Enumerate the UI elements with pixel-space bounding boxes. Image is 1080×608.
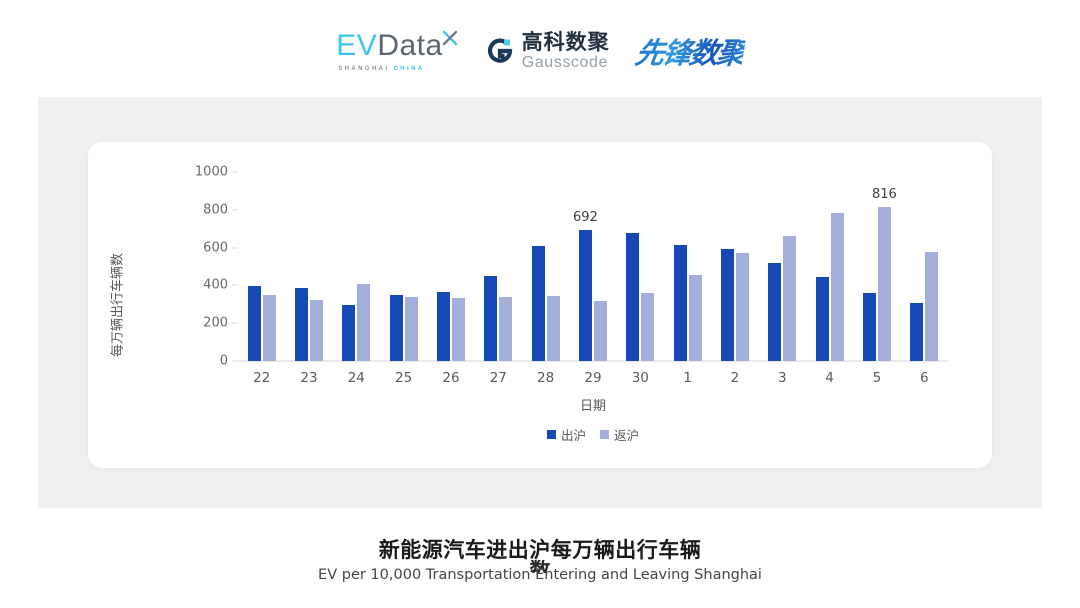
evdata-wordmark: EVData (336, 31, 458, 61)
x-tick-label: 1 (683, 370, 692, 386)
x-tick-label: 22 (253, 370, 270, 386)
x-tick-label: 4 (825, 370, 834, 386)
bar-group: 2 (711, 172, 758, 361)
bar-返沪-22[interactable] (263, 295, 276, 361)
bar-出沪-6[interactable] (910, 303, 923, 361)
bar-group: 22 (238, 172, 285, 361)
bar-返沪-1[interactable] (689, 275, 702, 361)
bar-返沪-24[interactable] (357, 284, 370, 361)
bar-group: 30 (617, 172, 664, 361)
evdata-tagline: SHANGHAI CHINA (338, 66, 424, 72)
x-tick-label: 30 (632, 370, 649, 386)
bar-group: 1 (664, 172, 711, 361)
legend-swatch-icon (547, 430, 556, 439)
bar-出沪-5[interactable] (863, 293, 876, 361)
gausscode-g-icon (485, 36, 515, 66)
evdata-prefix: EV (336, 29, 377, 62)
bar-group: 6 (901, 172, 948, 361)
y-axis-label: 每万辆出行车辆数 (107, 253, 126, 357)
bar-出沪-1[interactable] (674, 245, 687, 361)
bar-group: 28 (522, 172, 569, 361)
bar-出沪-3[interactable] (768, 263, 781, 361)
chart-card: 每万辆出行车辆数 02004006008001000 2223242526272… (88, 142, 992, 468)
logo-gausscode: 高科数聚 Gausscode (485, 32, 610, 71)
x-tick-label: 23 (300, 370, 317, 386)
bar-出沪-26[interactable] (437, 292, 450, 361)
evdata-text: EVData (336, 31, 442, 61)
bar-返沪-26[interactable] (452, 298, 465, 361)
x-axis-label: 日期 (580, 395, 606, 414)
bar-group: 26 (427, 172, 474, 361)
bar-返沪-25[interactable] (405, 297, 418, 361)
bar-返沪-28[interactable] (547, 296, 560, 361)
bar-返沪-30[interactable] (641, 293, 654, 361)
bar-返沪-6[interactable] (925, 252, 938, 361)
page-subtitle: EV per 10,000 Transportation Entering an… (318, 567, 762, 583)
plot-area: 02004006008001000 2223242526272869229301… (238, 172, 948, 361)
bar-group: 24 (333, 172, 380, 361)
bar-返沪-3[interactable] (783, 236, 796, 361)
evdata-tagline-city: SHANGHAI (338, 66, 389, 72)
bar-出沪-22[interactable] (248, 286, 261, 361)
bar-出沪-30[interactable] (626, 233, 639, 361)
bar-group: 3 (759, 172, 806, 361)
xianfeng-name-cn: 先锋数聚 (632, 30, 747, 72)
bar-返沪-5[interactable]: 816 (878, 207, 891, 361)
x-tick-label: 6 (920, 370, 929, 386)
bar-出沪-29[interactable]: 692 (579, 230, 592, 361)
x-tick-label: 3 (778, 370, 787, 386)
bar-返沪-27[interactable] (499, 297, 512, 361)
bar-出沪-23[interactable] (295, 288, 308, 361)
x-tick-label: 28 (537, 370, 554, 386)
chart-legend: 出沪返沪 (547, 425, 639, 444)
bar-chart: 每万辆出行车辆数 02004006008001000 2223242526272… (88, 142, 992, 468)
slide-page: EVData SHANGHAI CHINA (0, 0, 1080, 608)
x-tick-label: 24 (348, 370, 365, 386)
legend-label: 出沪 (561, 425, 586, 444)
bar-group: 27 (475, 172, 522, 361)
bar-出沪-27[interactable] (484, 276, 497, 361)
bar-group: 25 (380, 172, 427, 361)
gausscode-name-cn: 高科数聚 (522, 32, 610, 53)
bar-groups: 222324252627286922930123481656 (238, 172, 948, 361)
logo-evdata: EVData SHANGHAI CHINA (336, 31, 458, 72)
bar-返沪-23[interactable] (310, 300, 323, 361)
bar-group: 69229 (569, 172, 616, 361)
legend-swatch-icon (600, 430, 609, 439)
x-tick-label: 27 (490, 370, 507, 386)
legend-item-返沪[interactable]: 返沪 (600, 425, 639, 444)
bar-出沪-2[interactable] (721, 249, 734, 361)
bar-返沪-29[interactable] (594, 301, 607, 361)
x-tick-label: 5 (873, 370, 882, 386)
legend-label: 返沪 (614, 425, 639, 444)
x-tick-label: 2 (731, 370, 740, 386)
logo-xianfeng: 先锋数聚 (636, 30, 744, 72)
evdata-suffix: Data (377, 29, 442, 62)
x-tick-label: 25 (395, 370, 412, 386)
bar-group: 23 (285, 172, 332, 361)
x-tick-label: 29 (584, 370, 601, 386)
bar-value-label: 692 (573, 210, 598, 225)
x-tick-label: 26 (442, 370, 459, 386)
legend-item-出沪[interactable]: 出沪 (547, 425, 586, 444)
bar-出沪-25[interactable] (390, 295, 403, 361)
gausscode-wordmark: 高科数聚 Gausscode (522, 32, 610, 71)
gausscode-name-en: Gausscode (522, 55, 610, 71)
bar-group: 8165 (853, 172, 900, 361)
x-mark-icon (441, 29, 459, 47)
bar-group: 4 (806, 172, 853, 361)
bar-返沪-4[interactable] (831, 213, 844, 361)
bar-出沪-24[interactable] (342, 305, 355, 361)
bar-出沪-28[interactable] (532, 246, 545, 361)
evdata-tagline-country: CHINA (394, 66, 425, 72)
bar-value-label: 816 (872, 187, 897, 202)
logo-bar: EVData SHANGHAI CHINA (0, 22, 1080, 80)
bar-出沪-4[interactable] (816, 277, 829, 361)
bar-返沪-2[interactable] (736, 253, 749, 361)
